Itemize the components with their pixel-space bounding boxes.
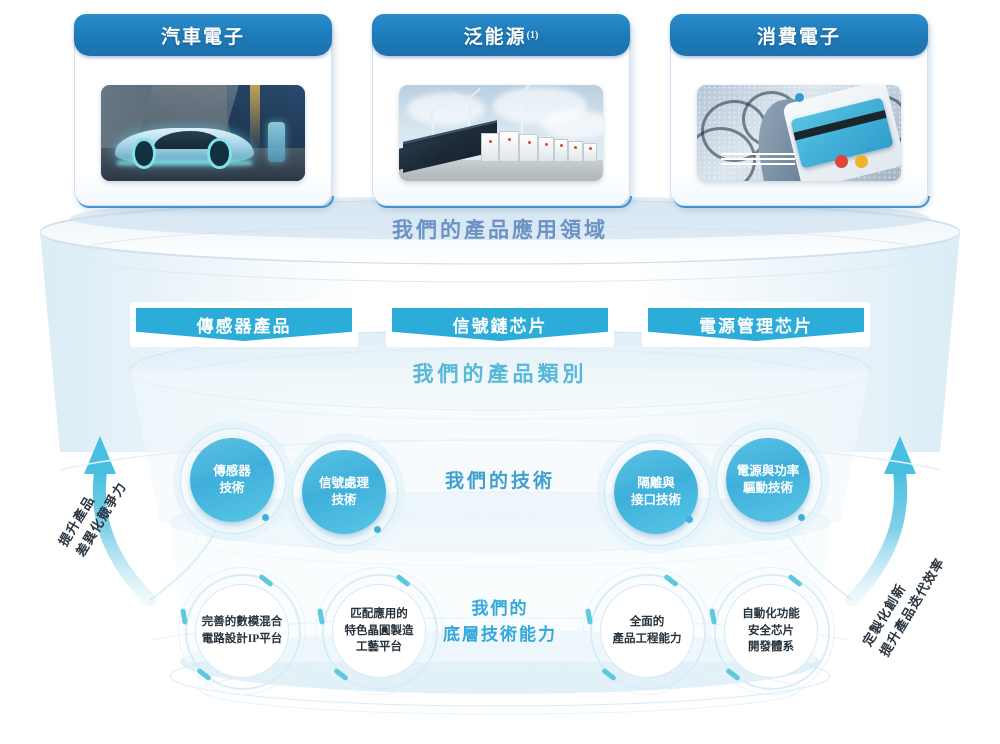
automotive-photo bbox=[101, 85, 305, 181]
base-circle-foundry-process[interactable]: 匹配應用的 特色晶圓製造 工藝平台 bbox=[332, 584, 426, 678]
base-label-line2: 電路設計IP平台 bbox=[202, 631, 283, 648]
base-label-line3: 開發體系 bbox=[742, 639, 800, 656]
card-header-automotive: 汽車電子 bbox=[74, 14, 332, 56]
tech-dot-1 bbox=[262, 514, 269, 521]
base-label-line2: 底層技術能力 bbox=[420, 622, 580, 648]
diagram-canvas: 汽車電子 泛能源(1) bbox=[0, 0, 1000, 744]
base-label-line2: 安全芯片 bbox=[742, 623, 800, 640]
tech-label-line2: 驅動技術 bbox=[737, 480, 800, 497]
tech-circle-signal-processing[interactable]: 信號處理 技術 bbox=[302, 450, 386, 534]
base-label-line2: 產品工程能力 bbox=[613, 631, 682, 648]
energy-photo bbox=[399, 85, 603, 181]
base-label-line2: 特色晶圓製造 bbox=[345, 623, 414, 640]
tech-dot-3 bbox=[686, 516, 693, 523]
application-card-energy[interactable]: 泛能源(1) bbox=[372, 14, 630, 206]
tech-label-line2: 接口技術 bbox=[631, 492, 681, 509]
tech-circle-isolation-interface[interactable]: 隔離與 接口技術 bbox=[614, 450, 698, 534]
band-label-base-capability: 我們的 底層技術能力 bbox=[420, 596, 580, 649]
tech-dot-4 bbox=[798, 514, 805, 521]
consumer-photo bbox=[697, 85, 901, 181]
tech-circle-sensor[interactable]: 傳感器 技術 bbox=[190, 438, 274, 522]
tech-label-line2: 技術 bbox=[213, 480, 251, 497]
arrow-caption-left: 提升產品 差異化競爭力 bbox=[54, 468, 131, 560]
base-label-line1: 完善的數模混合 bbox=[202, 614, 283, 631]
base-label-line3: 工藝平台 bbox=[345, 639, 414, 656]
band-label-technology: 我們的技術 bbox=[380, 466, 620, 493]
tech-dot-2 bbox=[374, 526, 381, 533]
card-header-energy: 泛能源(1) bbox=[372, 14, 630, 56]
base-label-line1: 匹配應用的 bbox=[345, 606, 414, 623]
base-circle-functional-safety[interactable]: 自動化功能 安全芯片 開發體系 bbox=[724, 584, 818, 678]
base-label-line1: 我們的 bbox=[420, 596, 580, 622]
base-circle-product-engineering[interactable]: 全面的 產品工程能力 bbox=[600, 584, 694, 678]
card-title: 汽車電子 bbox=[161, 22, 245, 49]
application-card-automotive[interactable]: 汽車電子 bbox=[74, 14, 332, 206]
base-label-line1: 全面的 bbox=[613, 614, 682, 631]
card-header-consumer: 消費電子 bbox=[670, 14, 928, 56]
card-title: 消費電子 bbox=[757, 22, 841, 49]
arrow-caption-right: 定製化創新 提升產品迭代效率 bbox=[858, 544, 949, 660]
band-label-category: 我們的產品類別 bbox=[0, 358, 1000, 388]
tech-label-line1: 電源與功率 bbox=[737, 463, 800, 480]
card-title: 泛能源 bbox=[464, 22, 527, 49]
tech-circle-power-drive[interactable]: 電源與功率 驅動技術 bbox=[726, 438, 810, 522]
tech-label-line1: 信號處理 bbox=[319, 475, 369, 492]
card-title-superscript: (1) bbox=[527, 30, 539, 41]
tech-label-line1: 隔離與 bbox=[631, 475, 681, 492]
base-circle-mixed-signal-ip[interactable]: 完善的數模混合 電路設計IP平台 bbox=[195, 584, 289, 678]
base-label-line1: 自動化功能 bbox=[742, 606, 800, 623]
tech-label-line1: 傳感器 bbox=[213, 463, 251, 480]
application-card-consumer[interactable]: 消費電子 bbox=[670, 14, 928, 206]
tech-label-line2: 技術 bbox=[319, 492, 369, 509]
band-label-application: 我們的產品應用領域 bbox=[0, 214, 1000, 244]
